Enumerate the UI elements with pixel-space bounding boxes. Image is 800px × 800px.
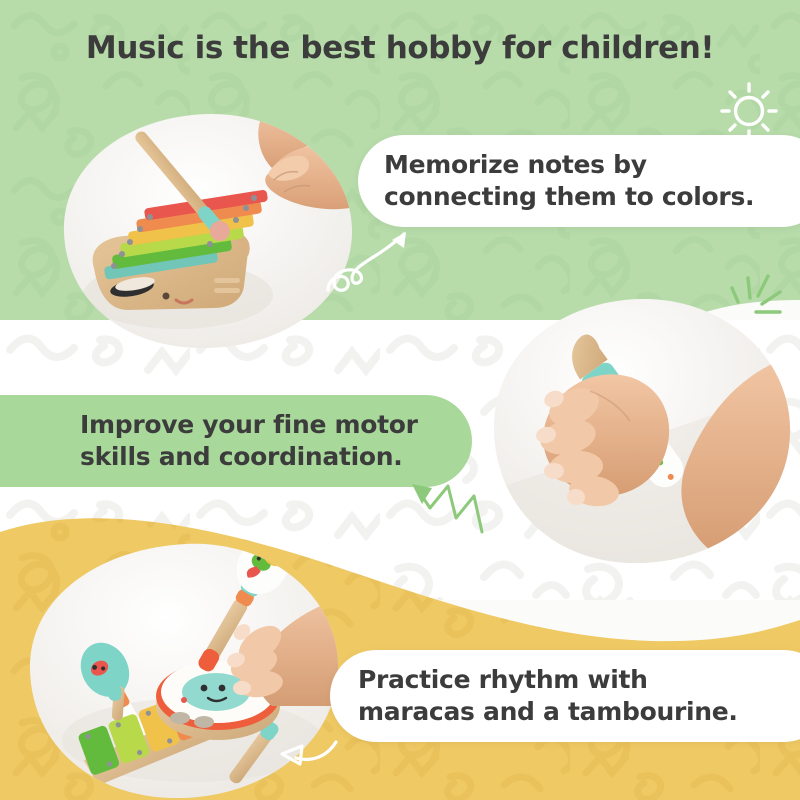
benefit-card-3-line1: Practice rhythm with xyxy=(358,664,800,696)
benefit-card-memorize-notes: Memorize notes by connecting them to col… xyxy=(358,135,800,227)
page-title: Music is the best hobby for children! xyxy=(0,30,800,66)
infographic-canvas: Music is the best hobby for children! xyxy=(0,0,800,800)
benefit-card-1-line1: Memorize notes by xyxy=(384,149,800,181)
photo-xylophone xyxy=(58,110,358,350)
benefit-card-fine-motor: Improve your fine motor skills and coord… xyxy=(0,395,472,487)
photo-recorder xyxy=(490,295,795,565)
photo-percussion xyxy=(22,540,342,800)
benefit-card-3-line2: maracas and a tambourine. xyxy=(358,696,800,728)
benefit-card-2-line2: skills and coordination. xyxy=(80,441,472,473)
benefit-card-2-line1: Improve your fine motor xyxy=(80,409,472,441)
benefit-card-practice-rhythm: Practice rhythm with maracas and a tambo… xyxy=(330,650,800,742)
benefit-card-1-line2: connecting them to colors. xyxy=(384,181,800,213)
